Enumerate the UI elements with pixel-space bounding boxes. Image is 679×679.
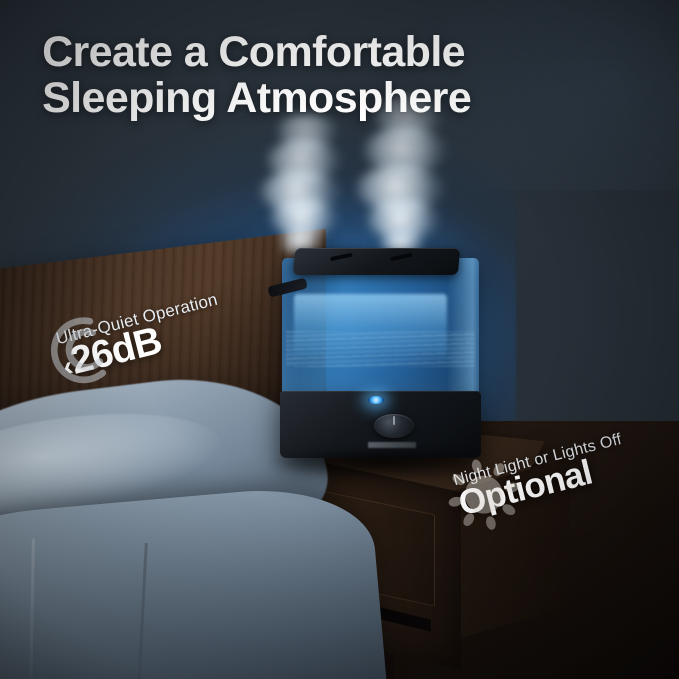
led-indicator (368, 396, 384, 403)
brand-logo (368, 442, 416, 448)
mist-outlet-left (330, 252, 352, 261)
headline-line-2: Sleeping Atmosphere (42, 74, 471, 122)
control-knob[interactable] (374, 414, 414, 438)
knob-pointer (393, 416, 395, 424)
headline-line-1: Create a Comfortable (42, 28, 465, 76)
tank-edge-highlight (447, 258, 479, 397)
humidifier-base (280, 391, 481, 458)
duvet-fold-shadow (136, 543, 148, 679)
mist-outlet-right (390, 252, 412, 261)
humidifier-top-cap (292, 248, 460, 275)
product-lifestyle-image: Create a Comfortable Sleeping Atmosphere… (0, 0, 679, 679)
duvet-fold (28, 539, 34, 679)
page-title: Create a Comfortable Sleeping Atmosphere (42, 29, 471, 122)
humidifier (282, 248, 479, 458)
duvet (0, 481, 389, 679)
humidifier-water-tank (282, 258, 479, 397)
